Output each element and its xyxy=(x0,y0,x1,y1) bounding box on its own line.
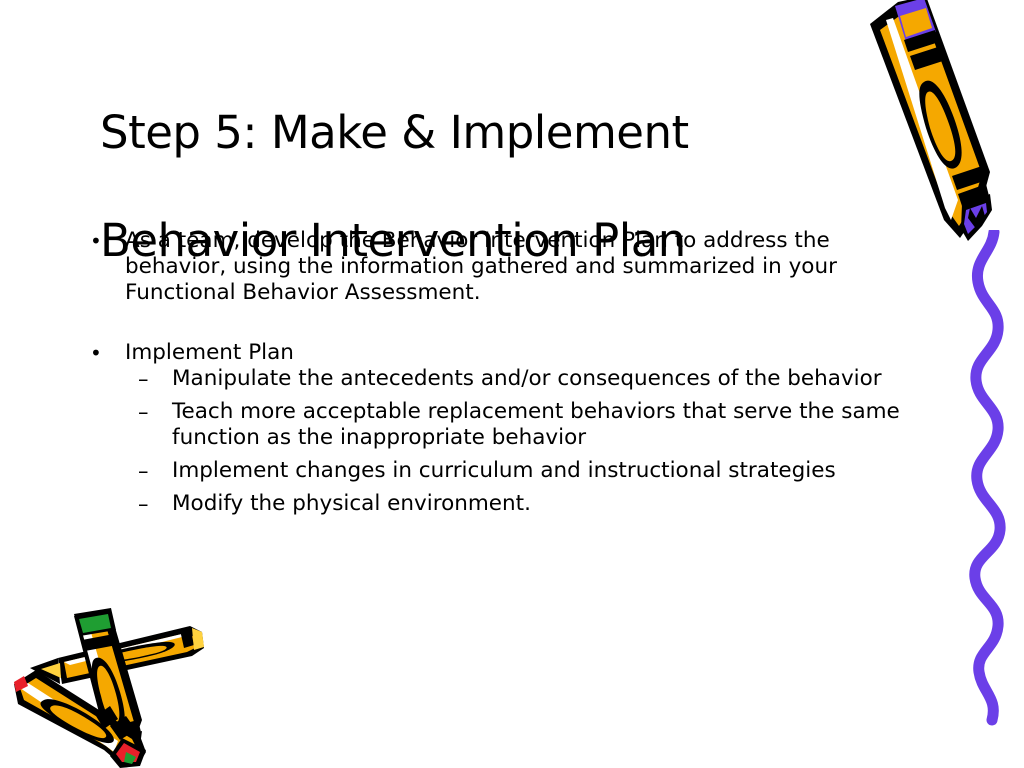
sub-bullet-list: – Manipulate the antecedents and/or cons… xyxy=(138,366,924,517)
body-spacer xyxy=(84,306,924,340)
sub-bullet-item-4-text: Modify the physical environment. xyxy=(172,491,924,517)
bullet-marker-icon: • xyxy=(84,228,125,254)
dash-marker-icon: – xyxy=(138,399,172,425)
bullet-item-2-text: Implement Plan xyxy=(125,340,924,366)
sub-bullet-item-4: – Modify the physical environment. xyxy=(138,491,924,517)
dash-marker-icon: – xyxy=(138,458,172,484)
sub-bullet-spacer xyxy=(138,392,924,399)
dash-marker-icon: – xyxy=(138,491,172,517)
sub-bullet-item-3-text: Implement changes in curriculum and inst… xyxy=(172,458,924,484)
sub-bullet-item-3: – Implement changes in curriculum and in… xyxy=(138,458,924,484)
slide-title-line-1: Step 5: Make & Implement xyxy=(100,106,860,160)
orange-crayon-icon xyxy=(840,0,1024,244)
purple-squiggle-icon xyxy=(948,230,1024,730)
bullet-marker-icon: • xyxy=(84,340,125,366)
sub-bullet-item-1-text: Manipulate the antecedents and/or conseq… xyxy=(172,366,924,392)
slide-canvas: Step 5: Make & Implement Behavior Interv… xyxy=(0,0,1024,768)
bullet-item-2: • Implement Plan xyxy=(84,340,924,366)
slide-body: • As a team, develop the Behavior Interv… xyxy=(84,228,924,517)
sub-bullet-item-2-text: Teach more acceptable replacement behavi… xyxy=(172,399,924,451)
sub-bullet-spacer xyxy=(138,451,924,458)
bullet-item-1: • As a team, develop the Behavior Interv… xyxy=(84,228,924,306)
bullet-item-1-text: As a team, develop the Behavior Interven… xyxy=(125,228,924,306)
sub-bullet-item-2: – Teach more acceptable replacement beha… xyxy=(138,399,924,451)
crossed-crayons-icon xyxy=(14,600,234,768)
sub-bullet-spacer xyxy=(138,484,924,491)
sub-bullet-item-1: – Manipulate the antecedents and/or cons… xyxy=(138,366,924,392)
dash-marker-icon: – xyxy=(138,366,172,392)
